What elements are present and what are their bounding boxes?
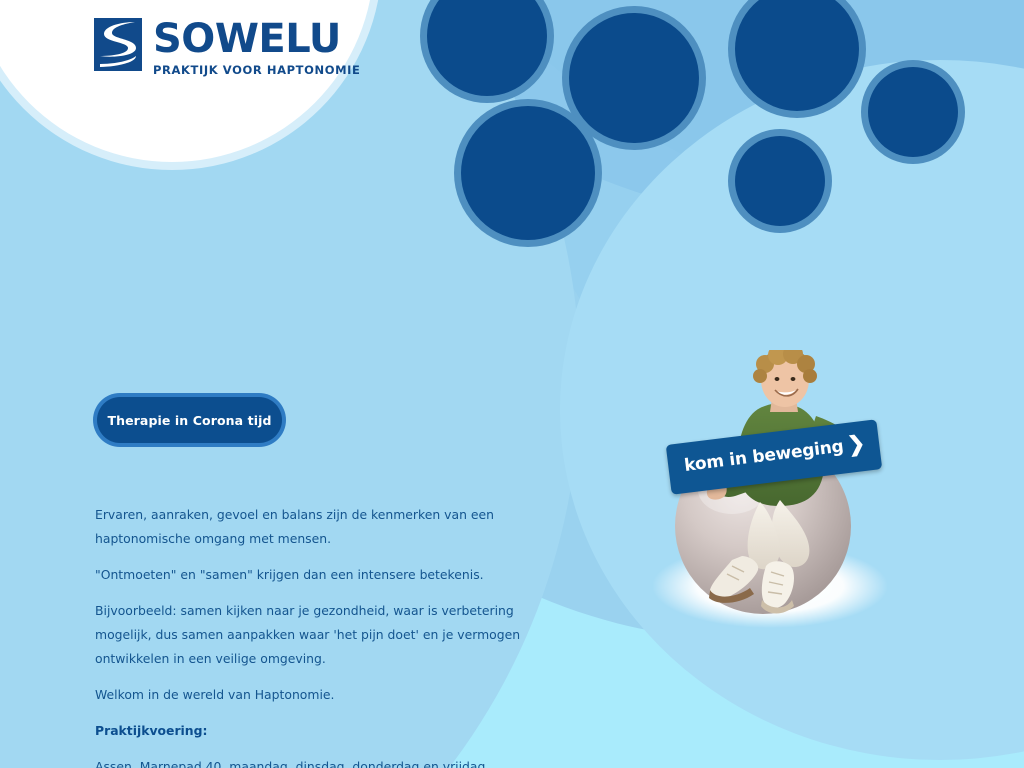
- intro-paragraph-3: Bijvoorbeeld: samen kijken naar je gezon…: [95, 599, 533, 671]
- logo-wordmark: SOWELU PRAKTIJK VOOR HAPTONOMIE: [153, 18, 360, 77]
- intro-paragraph-1: Ervaren, aanraken, gevoel en balans zijn…: [95, 503, 533, 551]
- background-shape-top-band-2: [300, 0, 1024, 220]
- intro-paragraph-2: "Ontmoeten" en "samen" krijgen dan een i…: [95, 563, 533, 587]
- decorative-circle-6: [868, 67, 958, 157]
- decorative-circle-2: [569, 13, 699, 143]
- hero-image-man-on-ball: [620, 350, 920, 640]
- logo-name: SOWELU: [153, 19, 360, 59]
- logo-tagline: PRAKTIJK VOOR HAPTONOMIE: [153, 63, 360, 77]
- site-logo[interactable]: SOWELU PRAKTIJK VOOR HAPTONOMIE: [94, 18, 360, 77]
- decorative-circle-3: [461, 106, 595, 240]
- practice-heading: Praktijkvoering:: [95, 719, 535, 743]
- intro-text-block: Ervaren, aanraken, gevoel en balans zijn…: [95, 503, 535, 768]
- decorative-circle-4: [735, 0, 859, 111]
- decorative-circle-1: [427, 0, 547, 96]
- intro-paragraph-4: Welkom in de wereld van Haptonomie.: [95, 683, 533, 707]
- chevron-right-icon: ❯: [846, 432, 866, 458]
- practice-location-line: Assen, Marnepad 40, maandag, dinsdag, do…: [95, 755, 533, 768]
- decorative-circle-5: [735, 136, 825, 226]
- therapie-corona-button[interactable]: Therapie in Corona tijd: [97, 397, 282, 443]
- page-root: SOWELU PRAKTIJK VOOR HAPTONOMIE Therapie…: [0, 0, 1024, 768]
- sowelu-s-mark-icon: [94, 18, 142, 71]
